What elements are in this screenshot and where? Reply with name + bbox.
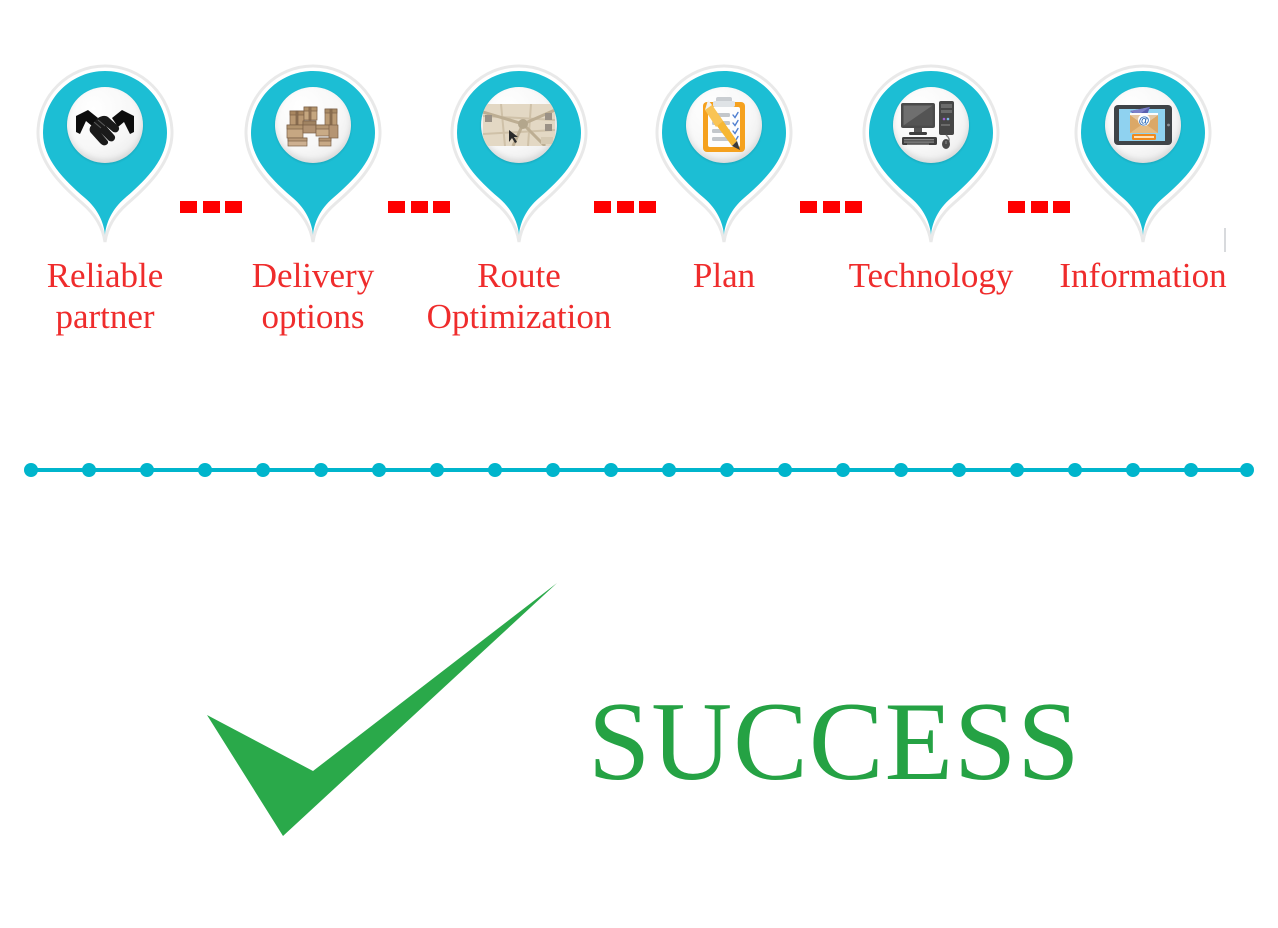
svg-text:@: @ [1139, 115, 1150, 127]
map-pin-shape [856, 60, 1006, 250]
desktop-computer-icon [893, 87, 969, 163]
step-node-delivery-options[interactable]: Delivery options [238, 60, 388, 360]
faint-vertical-tick [1224, 228, 1226, 252]
step-label: Route Optimization [414, 255, 624, 337]
infographic-canvas: Reliable partner [0, 0, 1278, 928]
green-checkmark [195, 570, 575, 860]
step-node-information[interactable]: @ Information [1068, 60, 1218, 360]
step-node-technology[interactable]: Technology [856, 60, 1006, 360]
dash-segment [594, 201, 611, 213]
dash-segment [203, 201, 220, 213]
dash-segment [1031, 201, 1048, 213]
step-node-reliable-partner[interactable]: Reliable partner [30, 60, 180, 360]
process-steps-row: Reliable partner [0, 60, 1278, 360]
map-pin-shape [649, 60, 799, 250]
dash-segment [411, 201, 428, 213]
dash-segment [388, 201, 405, 213]
step-label: Information [1038, 255, 1248, 296]
step-label: Technology [826, 255, 1036, 296]
dash-segment [617, 201, 634, 213]
step-node-route-optimization[interactable]: Route Optimization [444, 60, 594, 360]
handshake-icon [67, 87, 143, 163]
map-route-icon [481, 87, 557, 163]
clipboard-checklist-icon [686, 87, 762, 163]
dash-segment [180, 201, 197, 213]
step-label: Reliable partner [0, 255, 210, 337]
step-label: Plan [619, 255, 829, 296]
map-pin-shape [30, 60, 180, 250]
step-label: Delivery options [208, 255, 418, 337]
dotted-timeline-divider [0, 450, 1278, 490]
connector-5-6 [1008, 201, 1070, 213]
connector-3-4 [594, 201, 656, 213]
dash-segment [823, 201, 840, 213]
connector-2-3 [388, 201, 450, 213]
success-heading: SUCCESS [588, 686, 1081, 798]
map-pin-shape: @ [1068, 60, 1218, 250]
dash-segment [800, 201, 817, 213]
map-pin-shape [238, 60, 388, 250]
tablet-email-icon: @ [1105, 87, 1181, 163]
map-pin-shape [444, 60, 594, 250]
cardboard-boxes-icon [275, 87, 351, 163]
dash-segment [1008, 201, 1025, 213]
connector-1-2 [180, 201, 242, 213]
step-node-plan[interactable]: Plan [649, 60, 799, 360]
connector-4-5 [800, 201, 862, 213]
